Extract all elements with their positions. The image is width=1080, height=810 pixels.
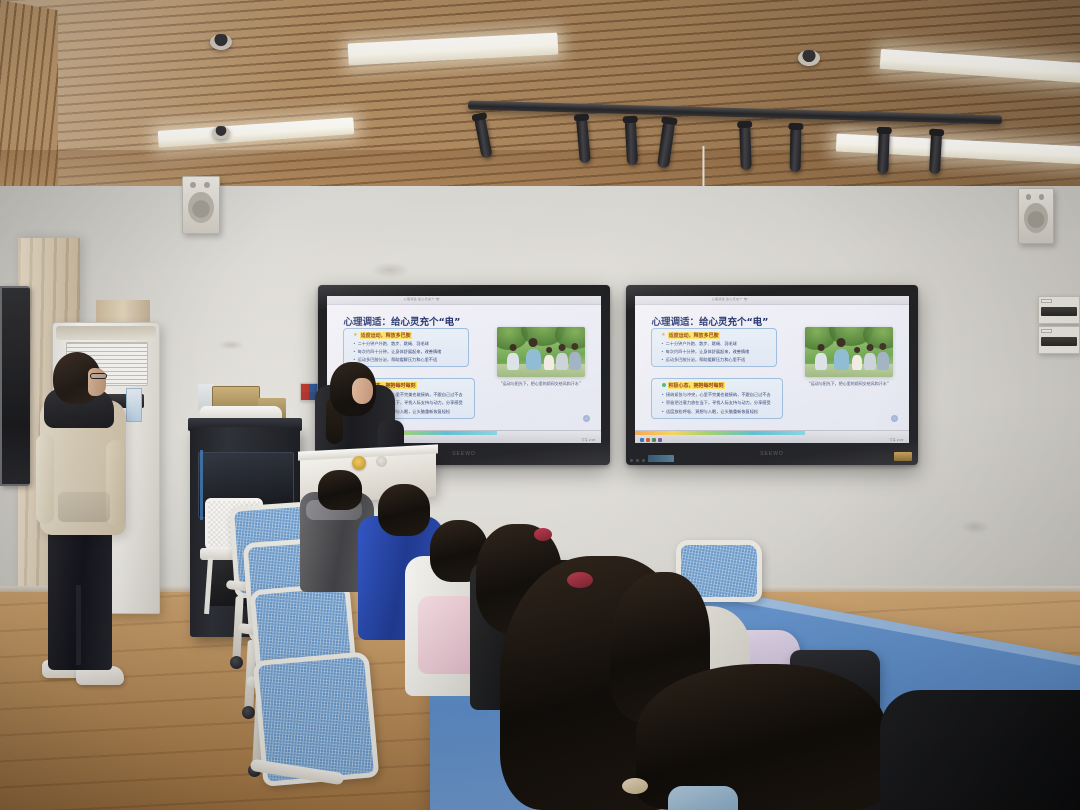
classroom-photo-scene: 心理调适 给心灵充个“电” 心理调适：给心灵充个“电” ★ 适度运动，释放多巴胺… [0, 0, 1080, 810]
taskbar-icon-c[interactable] [652, 438, 656, 442]
wall-mounted-tv[interactable] [0, 286, 30, 486]
photo-student-3-head [854, 347, 860, 353]
slide-right-logo [891, 415, 898, 422]
foreground-dark-shape [880, 690, 1080, 810]
taskbar-clock-left: 下午 2:07 [581, 438, 595, 442]
panel-tag-upper [1041, 299, 1051, 303]
photo-student-5 [877, 352, 889, 370]
photo-student-2-head [529, 338, 538, 347]
wall-speaker-right [1018, 188, 1054, 244]
chair-1-caster [230, 656, 243, 669]
track-spotlight-5 [739, 126, 752, 170]
photo-student-5 [569, 352, 581, 370]
slide-right-block-2-heading: 积极心态，拥抱每时每刻 [668, 382, 725, 389]
taskbar-icon-d[interactable] [658, 438, 662, 442]
ceiling-sensor-3 [212, 126, 230, 139]
panel-tag-lower [1041, 329, 1051, 333]
slide-left-photo [497, 327, 585, 377]
slide-right-photo [805, 327, 893, 377]
panel-breaker-row-upper [1041, 307, 1076, 316]
photo-student-2 [526, 349, 541, 370]
led-1 [630, 459, 633, 462]
slide-left-chrome: 心理调适 给心灵充个“电” [327, 296, 601, 305]
slide-right-block-2-bullet-1: 接纳紧张与冲突，心里不完美也能接纳，不跟自己过不去 [662, 392, 771, 398]
taskbar-icons-right[interactable] [640, 438, 662, 442]
led-2 [636, 459, 639, 462]
audience-2-hair [378, 484, 430, 536]
slide-left-photo-caption: “运动与阳光下，把心里的烦闷交给风和汗水” [486, 381, 596, 387]
podium-emblem-gold [352, 456, 366, 470]
photo-student-1-head [510, 344, 517, 351]
photo-student-1 [507, 353, 518, 370]
slide-left-block-1-bullet-2: 每次约四十分钟，让身体舒展起来，改善情绪 [353, 349, 441, 355]
display-right-io-strip [648, 455, 674, 462]
taskbar-icon-b[interactable] [646, 438, 650, 442]
electrical-panel-lower [1038, 326, 1080, 354]
ceiling-sensor-2 [798, 50, 820, 66]
track-spotlight-7 [877, 132, 889, 174]
display-right-side-button[interactable] [894, 452, 912, 461]
slide-right-photo-caption: “运动与阳光下，把心里的烦闷交给风和汗水” [794, 381, 904, 387]
slide-left-block-1: ★ 适度运动，释放多巴胺 二十分钟户外跑、散步、跳绳、羽毛球 每次约四十分钟，让… [343, 328, 469, 366]
rack-blue-trim [200, 450, 203, 520]
display-left-brand: SEEWO [452, 451, 476, 457]
photo-student-4 [556, 353, 567, 370]
audience-1-hair [318, 470, 362, 510]
slide-left-block-1-bullet-1: 二十分钟户外跑、散步、跳绳、羽毛球 [353, 341, 429, 347]
panel-breaker-row-lower [1041, 337, 1076, 346]
standing-student-arm-left [36, 434, 54, 524]
photo-student-3 [852, 355, 862, 370]
speaker-cone-left [188, 192, 214, 223]
electrical-panel-upper [1038, 296, 1080, 324]
photo-student-1 [815, 353, 826, 370]
slide-right-chrome-text: 心理调适 给心灵充个“电” [712, 297, 749, 301]
slide-right-title: 心理调适：给心灵充个“电” [651, 314, 768, 328]
star-icon: ★ [353, 332, 357, 338]
star-icon: ★ [661, 332, 665, 338]
speaker-cone-right [1024, 203, 1048, 233]
slide-left-block-1-bullet-3: 运动多巴胺分泌，帮助缓解压力和心里不适 [353, 357, 437, 363]
track-spotlight-8 [929, 134, 942, 175]
speaker-tweeter-left-b [204, 182, 210, 188]
slide-left-block-1-heading: 适度运动，释放多巴胺 [360, 332, 412, 339]
taskbar-clock-right: 下午 2:07 [889, 438, 903, 442]
standing-student-pocket [58, 492, 110, 522]
slide-right-block-1-bullet-3: 运动多巴胺分泌，帮助缓解压力和心里不适 [661, 357, 745, 363]
speaker-tweeter-right-a [1026, 194, 1031, 200]
track-spotlight-6 [790, 128, 802, 172]
photo-student-4 [864, 353, 875, 370]
photo-student-2-head [837, 338, 846, 347]
photo-student-3-head [546, 347, 552, 353]
glasses-icon [90, 373, 107, 379]
taskbar-icon-a[interactable] [640, 438, 644, 442]
display-right-chin: SEEWO [626, 443, 918, 465]
presenter-face [352, 378, 373, 404]
wall-mark-1 [370, 262, 410, 278]
slide-left-logo [583, 415, 590, 422]
audience-6-collar [668, 786, 738, 810]
slide-right: 心理调适 给心灵充个“电” 心理调适：给心灵充个“电” ★ 适度运动，释放多巴胺… [635, 296, 909, 443]
photo-student-4-head [867, 344, 874, 351]
slide-right-block-1-heading: 适度运动，释放多巴胺 [668, 332, 720, 339]
track-spotlight-3 [625, 121, 638, 166]
slide-right-taskbar[interactable]: 下午 2:07 [635, 430, 909, 443]
green-dot-icon [662, 383, 666, 387]
wall-speaker-left [182, 176, 220, 234]
speaker-tweeter-left-a [190, 182, 196, 188]
slide-left-block-1-heading-row: ★ 适度运动，释放多巴胺 [353, 332, 412, 339]
standing-student-leg-gap [76, 585, 81, 665]
slide-right-block-1-bullet-1: 二十分钟户外跑、散步、跳绳、羽毛球 [661, 341, 737, 347]
slide-right-block-2-bullet-3: 适度放松呼吸、冥想与入眠，让头脑重新恢复轻松 [662, 409, 759, 415]
slide-right-block-2-bullet-2: 积极把注意力放在当下，寻找人际支持与动力，分享感受 [662, 400, 771, 406]
poster-swatch-2 [309, 384, 317, 392]
wall-mark-3 [960, 520, 990, 534]
slide-right-block-1: ★ 适度运动，释放多巴胺 二十分钟户外跑、散步、跳绳、羽毛球 每次约四十分钟，让… [651, 328, 777, 366]
slide-left-title: 心理调适：给心灵充个“电” [343, 314, 460, 328]
audience-6-hair-clip [622, 778, 648, 794]
ceiling-sensor-1 [210, 34, 232, 50]
photo-student-1-head [818, 344, 825, 351]
wall-mark-4 [218, 340, 244, 350]
led-3 [642, 459, 645, 462]
audience-5-hair-tie [567, 572, 593, 588]
taskbar-gradient-right [635, 431, 805, 436]
poster-swatch-5 [301, 392, 309, 400]
chair-2-caster [242, 706, 255, 719]
podium-emblem-silver [376, 456, 387, 467]
photo-student-2 [834, 349, 849, 370]
ac-energy-label [126, 388, 142, 422]
slide-right-block-2: 积极心态，拥抱每时每刻 接纳紧张与冲突，心里不完美也能接纳，不跟自己过不去 积极… [651, 378, 783, 419]
slide-right-block-1-heading-row: ★ 适度运动，释放多巴胺 [661, 332, 720, 339]
slide-right-block-1-bullet-2: 每次约四十分钟，让身体舒展起来，改善情绪 [661, 349, 749, 355]
ac-top-cap [56, 326, 156, 340]
interactive-display-right[interactable]: 心理调适 给心灵充个“电” 心理调适：给心灵充个“电” ★ 适度运动，释放多巴胺… [626, 285, 918, 465]
slide-right-block-2-heading-row: 积极心态，拥抱每时每刻 [662, 382, 725, 389]
display-right-panel[interactable]: 心理调适 给心灵充个“电” 心理调适：给心灵充个“电” ★ 适度运动，释放多巴胺… [635, 296, 909, 443]
audience-4-hair-tie [534, 528, 552, 541]
poster-swatch-1 [301, 384, 309, 392]
slide-left-chrome-text: 心理调适 给心灵充个“电” [404, 297, 441, 301]
slide-right-chrome: 心理调适 给心灵充个“电” [635, 296, 909, 305]
photo-student-4-head [559, 344, 566, 351]
photo-student-3 [544, 355, 554, 370]
display-right-brand: SEEWO [760, 451, 784, 457]
speaker-tweeter-right-b [1039, 194, 1044, 200]
